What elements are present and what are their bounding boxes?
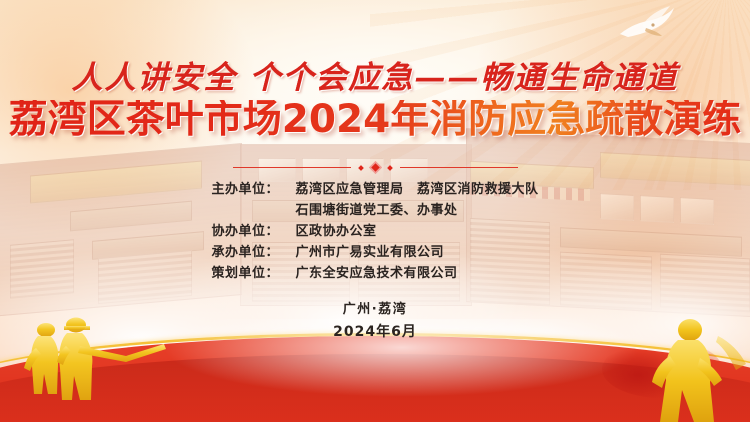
diamond-divider bbox=[0, 163, 750, 172]
organizer-row: 主办单位： 石围塘街道党工委、办事处 bbox=[211, 199, 538, 218]
organizer-label: 协办单位： bbox=[211, 220, 295, 239]
divider-rule-left bbox=[233, 167, 351, 168]
organizer-row: 协办单位： 区政协办公室 bbox=[211, 220, 538, 239]
place-date-block: 广州·荔湾 2024年6月 bbox=[0, 298, 750, 341]
organizer-label: 承办单位： bbox=[211, 241, 295, 260]
divider-dot-right bbox=[387, 165, 393, 171]
poster-canvas: 人人讲安全 个个会应急——畅通生命通道 荔湾区茶叶市场2024年消防应急疏散演练… bbox=[0, 0, 750, 422]
divider-dot-left bbox=[358, 165, 364, 171]
organizer-row: 承办单位： 广州市广易实业有限公司 bbox=[211, 241, 538, 260]
place-text: 广州·荔湾 bbox=[0, 298, 750, 317]
divider-rule-right bbox=[400, 167, 518, 168]
page-title: 荔湾区茶叶市场2024年消防应急疏散演练 bbox=[0, 100, 750, 141]
poster-content: 人人讲安全 个个会应急——畅通生命通道 荔湾区茶叶市场2024年消防应急疏散演练… bbox=[0, 0, 750, 422]
organizer-label: 策划单位： bbox=[211, 262, 295, 281]
organizer-row: 策划单位： 广东全安应急技术有限公司 bbox=[211, 262, 538, 281]
slogan-text: 人人讲安全 个个会应急——畅通生命通道 bbox=[0, 52, 750, 97]
organizers-block: 主办单位： 荔湾区应急管理局 荔湾区消防救援大队 主办单位： 石围塘街道党工委、… bbox=[0, 178, 750, 283]
organizer-value: 广东全安应急技术有限公司 bbox=[295, 262, 457, 281]
organizer-row: 主办单位： 荔湾区应急管理局 荔湾区消防救援大队 bbox=[211, 178, 538, 197]
organizer-label: 主办单位： bbox=[211, 178, 295, 197]
organizer-value: 石围塘街道党工委、办事处 bbox=[295, 199, 457, 218]
divider-diamond-icon bbox=[369, 161, 382, 174]
organizer-value: 广州市广易实业有限公司 bbox=[295, 241, 444, 260]
organizer-value: 荔湾区应急管理局 荔湾区消防救援大队 bbox=[295, 178, 538, 197]
organizer-value: 区政协办公室 bbox=[295, 220, 376, 239]
organizers-list: 主办单位： 荔湾区应急管理局 荔湾区消防救援大队 主办单位： 石围塘街道党工委、… bbox=[211, 178, 538, 283]
date-text: 2024年6月 bbox=[0, 321, 750, 341]
